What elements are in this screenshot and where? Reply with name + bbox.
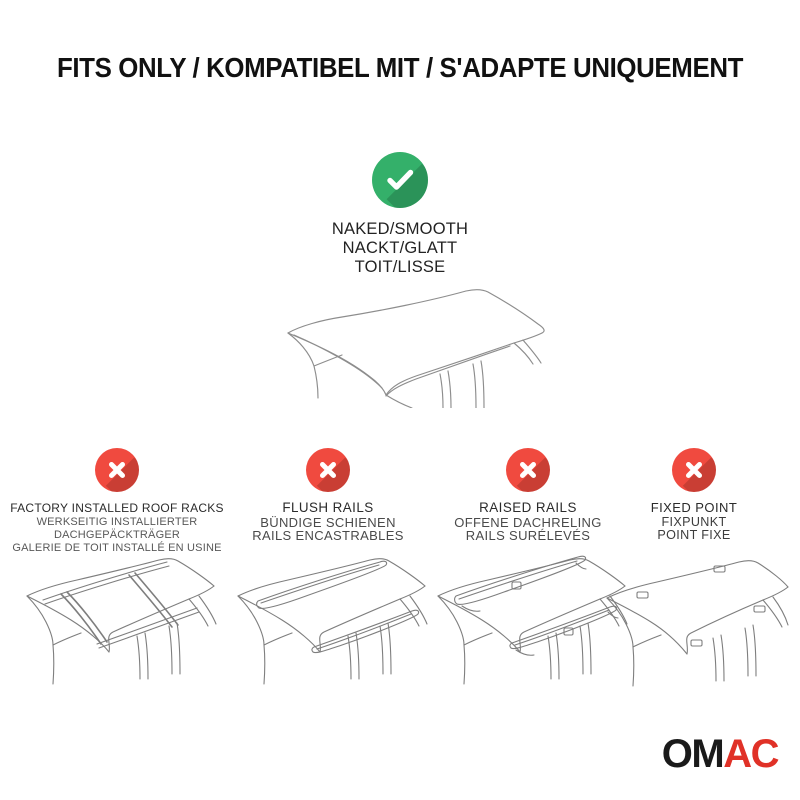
compatible-labels: NAKED/SMOOTH NACKT/GLATT TOIT/LISSE <box>0 220 800 277</box>
label-line-2: POINT FIXE <box>608 529 780 542</box>
incompatible-item-factory-rack: FACTORY INSTALLED ROOF RACKS WERKSEITIG … <box>2 448 232 555</box>
page-title: FITS ONLY / KOMPATIBEL MIT / S'ADAPTE UN… <box>24 52 776 84</box>
car-roof-flush-rails-illustration <box>228 544 428 699</box>
x-glyph <box>672 448 716 492</box>
x-glyph <box>95 448 139 492</box>
compatible-label-2: TOIT/LISSE <box>0 258 800 277</box>
logo-text-dark: OM <box>662 732 723 776</box>
compatible-section: NAKED/SMOOTH NACKT/GLATT TOIT/LISSE <box>0 152 800 277</box>
green-check-icon <box>372 152 428 208</box>
incompatible-item-raised-rails: RAISED RAILS OFFENE DACHRELING RAILS SUR… <box>423 448 633 542</box>
incompatible-labels: RAISED RAILS OFFENE DACHRELING RAILS SUR… <box>423 501 633 542</box>
omac-logo: OMAC <box>662 734 778 774</box>
label-line-0: FACTORY INSTALLED ROOF RACKS <box>2 501 232 516</box>
label-line-1: BÜNDIGE SCHIENEN <box>223 516 433 529</box>
compatible-label-0: NAKED/SMOOTH <box>0 220 800 239</box>
check-glyph <box>372 152 428 208</box>
x-glyph <box>506 448 550 492</box>
x-glyph <box>306 448 350 492</box>
label-line-0: FLUSH RAILS <box>223 501 433 516</box>
label-line-2: RAILS SURÉLEVÉS <box>423 529 633 542</box>
label-line-1: WERKSEITIG INSTALLIERTER <box>2 516 232 529</box>
label-line-1: FIXPUNKT <box>608 516 780 529</box>
label-line-2: DACHGEPÄCKTRÄGER <box>2 529 232 542</box>
label-line-0: RAISED RAILS <box>423 501 633 516</box>
car-roof-raised-rails-illustration <box>428 544 628 699</box>
label-line-2: RAILS ENCASTRABLES <box>223 529 433 542</box>
incompatible-item-flush-rails: FLUSH RAILS BÜNDIGE SCHIENEN RAILS ENCAS… <box>223 448 433 542</box>
car-roof-factory-rack-illustration <box>17 544 217 699</box>
incompatible-section: FACTORY INSTALLED ROOF RACKS WERKSEITIG … <box>0 448 800 708</box>
car-roof-naked-smooth-illustration <box>270 278 570 408</box>
fitment-infographic: FITS ONLY / KOMPATIBEL MIT / S'ADAPTE UN… <box>0 0 800 800</box>
red-x-icon <box>95 448 139 492</box>
red-x-icon <box>306 448 350 492</box>
incompatible-item-fixed-point: FIXED POINT FIXPUNKT POINT FIXE <box>608 448 780 542</box>
label-line-1: OFFENE DACHRELING <box>423 516 633 529</box>
red-x-icon <box>506 448 550 492</box>
compatible-label-1: NACKT/GLATT <box>0 239 800 258</box>
incompatible-labels: FLUSH RAILS BÜNDIGE SCHIENEN RAILS ENCAS… <box>223 501 433 542</box>
incompatible-labels: FIXED POINT FIXPUNKT POINT FIXE <box>608 501 780 542</box>
label-line-0: FIXED POINT <box>608 501 780 516</box>
logo-text-red: AC <box>723 732 778 776</box>
car-roof-fixed-point-illustration <box>599 544 789 699</box>
red-x-icon <box>672 448 716 492</box>
